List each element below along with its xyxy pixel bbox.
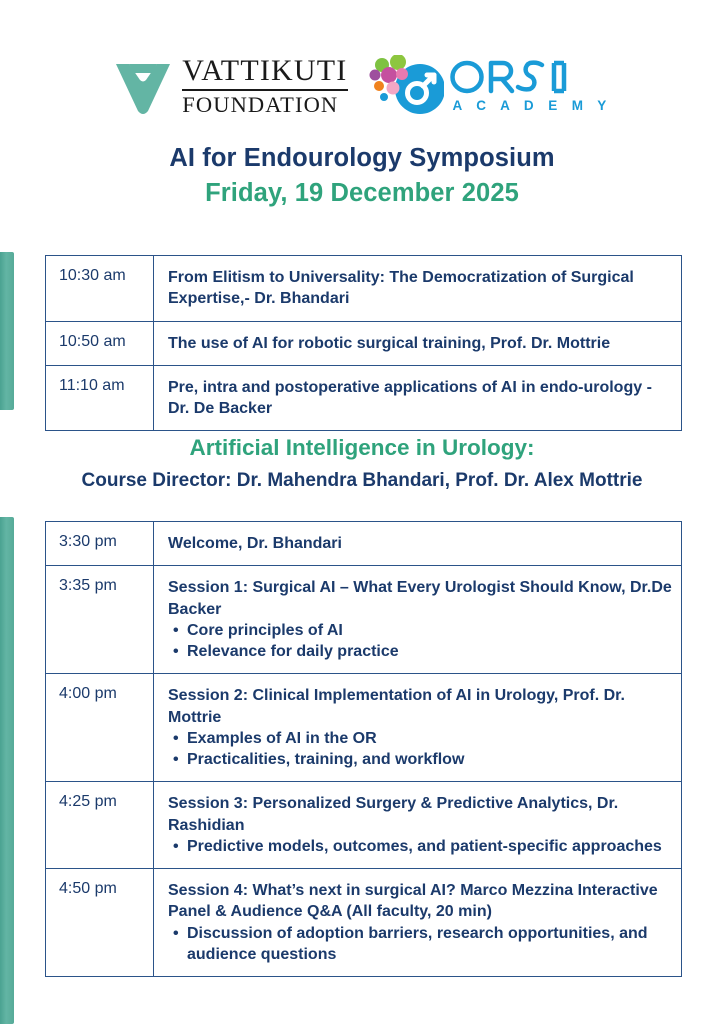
vattikuti-wordmark: VATTIKUTI FOUNDATION xyxy=(182,56,347,116)
symposium-flyer: VATTIKUTI FOUNDATION xyxy=(0,0,724,1024)
section-heading-block: Artificial Intelligence in Urology: Cour… xyxy=(0,433,724,494)
session-time: 11:10 am xyxy=(46,365,154,431)
session-bullets: Examples of AI in the ORPracticalities, … xyxy=(168,728,673,771)
accent-bar-morning xyxy=(0,252,14,410)
session-description: Session 3: Personalized Surgery & Predic… xyxy=(154,782,682,869)
bullet-item: Discussion of adoption barriers, researc… xyxy=(168,923,673,966)
session-time: 4:00 pm xyxy=(46,674,154,782)
table-row: 3:30 pm Welcome, Dr. Bhandari xyxy=(46,522,682,566)
session-description: From Elitism to Universality: The Democr… xyxy=(154,256,682,322)
session-time: 3:30 pm xyxy=(46,522,154,566)
event-date: Friday, 19 December 2025 xyxy=(0,174,724,210)
session-time: 10:50 am xyxy=(46,321,154,365)
bullet-item: Relevance for daily practice xyxy=(168,641,673,662)
session-title: Session 2: Clinical Implementation of AI… xyxy=(168,685,673,728)
table-row: 11:10 am Pre, intra and postoperative ap… xyxy=(46,365,682,431)
session-bullets: Predictive models, outcomes, and patient… xyxy=(168,836,673,857)
bullet-item: Practicalities, training, and workflow xyxy=(168,749,673,770)
session-title: Session 1: Surgical AI – What Every Urol… xyxy=(168,577,673,620)
session-description: The use of AI for robotic surgical train… xyxy=(154,321,682,365)
orsi-academy-logo: A C A D E M Y xyxy=(368,51,612,121)
accent-bar-afternoon xyxy=(0,517,14,1024)
page-title: AI for Endourology Symposium xyxy=(0,142,724,174)
session-description: Pre, intra and postoperative application… xyxy=(154,365,682,431)
session-title: Session 3: Personalized Surgery & Predic… xyxy=(168,793,673,836)
session-time: 3:35 pm xyxy=(46,566,154,674)
logo-row: VATTIKUTI FOUNDATION xyxy=(0,44,724,128)
orsi-wordmark: A C A D E M Y xyxy=(450,60,612,113)
session-description: Session 4: What’s next in surgical AI? M… xyxy=(154,869,682,977)
table-row: 4:00 pm Session 2: Clinical Implementati… xyxy=(46,674,682,782)
course-director: Course Director: Dr. Mahendra Bhandari, … xyxy=(0,462,724,494)
table-row: 10:50 am The use of AI for robotic surgi… xyxy=(46,321,682,365)
vattikuti-name: VATTIKUTI xyxy=(182,56,347,89)
session-time: 10:30 am xyxy=(46,256,154,322)
v-mark-icon xyxy=(112,55,174,117)
table-row: 4:25 pm Session 3: Personalized Surgery … xyxy=(46,782,682,869)
orsi-name xyxy=(450,60,568,94)
session-title: Pre, intra and postoperative application… xyxy=(168,377,673,420)
session-description: Session 2: Clinical Implementation of AI… xyxy=(154,674,682,782)
morning-schedule-table: 10:30 am From Elitism to Universality: T… xyxy=(45,255,682,431)
session-title: From Elitism to Universality: The Democr… xyxy=(168,267,673,310)
table-row: 4:50 pm Session 4: What’s next in surgic… xyxy=(46,869,682,977)
session-title: Session 4: What’s next in surgical AI? M… xyxy=(168,880,673,923)
table-row: 3:35 pm Session 1: Surgical AI – What Ev… xyxy=(46,566,682,674)
session-title: The use of AI for robotic surgical train… xyxy=(168,333,673,354)
morning-schedule-body: 10:30 am From Elitism to Universality: T… xyxy=(46,256,682,431)
session-bullets: Discussion of adoption barriers, researc… xyxy=(168,923,673,966)
afternoon-schedule-table: 3:30 pm Welcome, Dr. Bhandari 3:35 pm Se… xyxy=(45,521,682,977)
bullet-item: Examples of AI in the OR xyxy=(168,728,673,749)
vattikuti-foundation-logo: VATTIKUTI FOUNDATION xyxy=(112,51,347,121)
bullet-item: Predictive models, outcomes, and patient… xyxy=(168,836,673,857)
table-row: 10:30 am From Elitism to Universality: T… xyxy=(46,256,682,322)
section-title: Artificial Intelligence in Urology: xyxy=(0,433,724,462)
session-bullets: Core principles of AIRelevance for daily… xyxy=(168,620,673,663)
session-description: Session 1: Surgical AI – What Every Urol… xyxy=(154,566,682,674)
bullet-item: Core principles of AI xyxy=(168,620,673,641)
title-block: AI for Endourology Symposium Friday, 19 … xyxy=(0,142,724,210)
session-title: Welcome, Dr. Bhandari xyxy=(168,533,673,554)
afternoon-schedule-body: 3:30 pm Welcome, Dr. Bhandari 3:35 pm Se… xyxy=(46,522,682,977)
session-time: 4:25 pm xyxy=(46,782,154,869)
orsi-sub: A C A D E M Y xyxy=(450,94,612,113)
session-description: Welcome, Dr. Bhandari xyxy=(154,522,682,566)
session-time: 4:50 pm xyxy=(46,869,154,977)
molecule-male-symbol-icon xyxy=(368,55,444,117)
vattikuti-sub: FOUNDATION xyxy=(182,91,347,117)
